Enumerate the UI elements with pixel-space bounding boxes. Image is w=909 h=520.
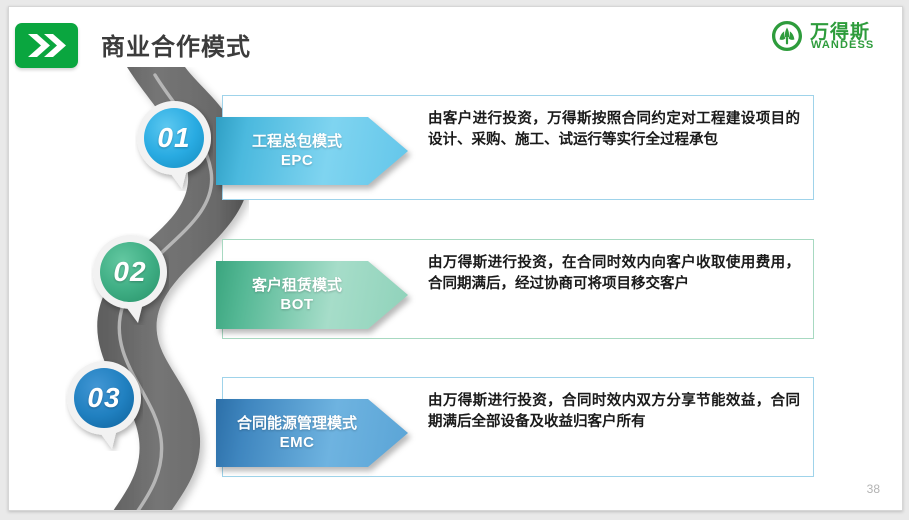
- page-title: 商业合作模式: [101, 27, 251, 62]
- model-row-epc: 工程总包模式 EPC 由客户进行投资，万得斯按照合同约定对工程建设项目的设计、采…: [222, 95, 814, 200]
- model-row-emc-arrow: 合同能源管理模式 EMC: [216, 399, 408, 467]
- step-badge-03: 03: [65, 359, 143, 451]
- step-badge-01: 01: [135, 99, 213, 191]
- model-row-emc-title-en: EMC: [280, 433, 315, 452]
- model-row-emc: 合同能源管理模式 EMC 由万得斯进行投资，合同时效内双方分享节能效益，合同期满…: [222, 377, 814, 477]
- model-row-bot-title-cn: 客户租赁模式: [252, 276, 342, 295]
- model-row-emc-title-cn: 合同能源管理模式: [237, 414, 357, 433]
- model-row-epc-title-en: EPC: [281, 151, 313, 170]
- model-row-emc-description: 由万得斯进行投资，合同时效内双方分享节能效益，合同期满后全部设备及收益归客户所有: [428, 391, 800, 433]
- model-row-bot-title-en: BOT: [280, 295, 313, 314]
- slide-canvas: 商业合作模式 万得斯 WANDESS: [0, 0, 909, 520]
- model-row-epc-arrow: 工程总包模式 EPC: [216, 117, 408, 185]
- logo-name-en: WANDESS: [811, 39, 874, 51]
- model-row-epc-title-cn: 工程总包模式: [252, 132, 342, 151]
- model-row-epc-description: 由客户进行投资，万得斯按照合同约定对工程建设项目的设计、采购、施工、试运行等实行…: [428, 109, 800, 151]
- model-row-bot-description: 由万得斯进行投资，在合同时效内向客户收取使用费用，合同期满后，经过协商可将项目移…: [428, 253, 800, 295]
- slide-page: 商业合作模式 万得斯 WANDESS: [8, 6, 903, 511]
- double-chevron-icon: [15, 23, 78, 68]
- model-row-epc-arrow-label: 工程总包模式 EPC: [216, 117, 378, 185]
- model-row-bot: 客户租赁模式 BOT 由万得斯进行投资，在合同时效内向客户收取使用费用，合同期满…: [222, 239, 814, 339]
- brand-logo: 万得斯 WANDESS: [770, 15, 888, 59]
- page-number: 38: [867, 482, 880, 496]
- model-row-bot-arrow-label: 客户租赁模式 BOT: [216, 261, 378, 329]
- step-badge-02: 02: [91, 233, 169, 325]
- model-row-emc-arrow-label: 合同能源管理模式 EMC: [216, 399, 378, 467]
- leaf-emblem-icon: [770, 19, 804, 58]
- model-row-bot-arrow: 客户租赁模式 BOT: [216, 261, 408, 329]
